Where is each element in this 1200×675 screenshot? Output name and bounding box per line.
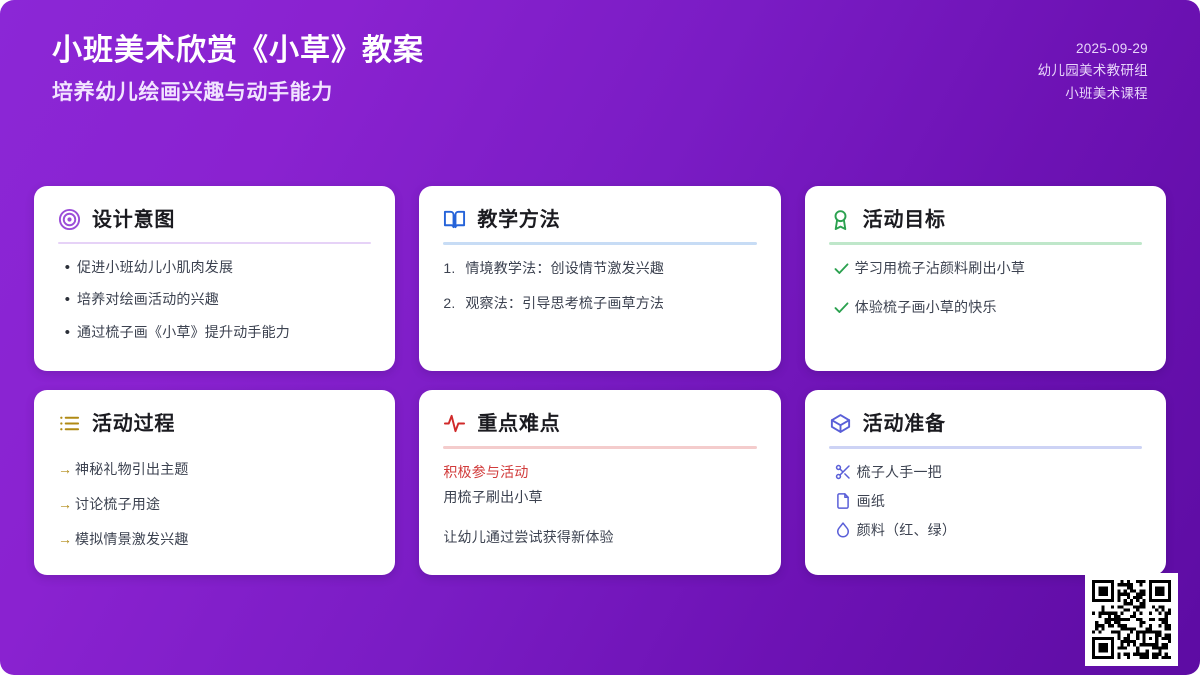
check-icon	[829, 299, 855, 316]
list-item-label: 用梳子刷出小草	[443, 488, 756, 507]
card-activity-goals[interactable]: 活动目标学习用梳子沾颜料刷出小草体验梳子画小草的快乐	[805, 186, 1166, 371]
bullet-marker: •	[58, 258, 77, 278]
card-key-difficulties[interactable]: 重点难点积极参与活动用梳子刷出小草让幼儿通过尝试获得新体验	[419, 390, 780, 575]
card-header: 活动准备	[829, 412, 1142, 435]
list-item: 用梳子刷出小草	[443, 488, 756, 507]
list-item-label: 促进小班幼儿小肌肉发展	[77, 258, 371, 277]
list-item: •培养对绘画活动的兴趣	[58, 290, 371, 310]
list-item: 颜料（红、绿）	[829, 521, 1142, 540]
card-grid: 设计意图•促进小班幼儿小肌肉发展•培养对绘画活动的兴趣•通过梳子画《小草》提升动…	[34, 186, 1166, 575]
number-marker: 1.	[443, 259, 465, 278]
page-title: 小班美术欣赏《小草》教案	[52, 32, 424, 70]
list-item: 让幼儿通过尝试获得新体验	[443, 528, 756, 547]
meta-date: 2025-09-29	[1038, 38, 1148, 60]
list-item: 学习用梳子沾颜料刷出小草	[829, 259, 1142, 278]
card-header: 活动过程	[58, 412, 371, 435]
check-icon	[829, 260, 855, 277]
list-item: 梳子人手一把	[829, 463, 1142, 482]
list-item: •促进小班幼儿小肌肉发展	[58, 258, 371, 278]
list-item-label: 体验梳子画小草的快乐	[855, 298, 1142, 317]
card-divider	[829, 242, 1142, 245]
list-icon	[58, 412, 81, 435]
list-item-label: 积极参与活动	[443, 463, 756, 482]
bullet-marker: •	[58, 290, 77, 310]
box-icon	[829, 412, 852, 435]
card-header: 活动目标	[829, 208, 1142, 231]
list-item-label: 神秘礼物引出主题	[75, 460, 371, 479]
arrow-marker: →	[58, 460, 75, 479]
card-body: 学习用梳子沾颜料刷出小草体验梳子画小草的快乐	[829, 259, 1142, 337]
card-divider	[58, 242, 371, 244]
file-icon	[829, 492, 857, 510]
list-item: •通过梳子画《小草》提升动手能力	[58, 323, 371, 343]
meta-department: 幼儿园美术教研组	[1038, 60, 1148, 82]
card-activity-process[interactable]: 活动过程→神秘礼物引出主题→讨论梳子用途→模拟情景激发兴趣	[34, 390, 395, 575]
card-title: 教学方法	[477, 209, 560, 231]
pulse-icon	[443, 412, 466, 435]
list-item-label: 学习用梳子沾颜料刷出小草	[855, 259, 1142, 278]
slide-root: 小班美术欣赏《小草》教案 培养幼儿绘画兴趣与动手能力 2025-09-29 幼儿…	[0, 0, 1200, 675]
header-meta: 2025-09-29 幼儿园美术教研组 小班美术课程	[1038, 26, 1148, 105]
bullet-marker: •	[58, 323, 77, 343]
card-title: 设计意图	[92, 209, 175, 231]
card-body: →神秘礼物引出主题→讨论梳子用途→模拟情景激发兴趣	[58, 460, 371, 565]
card-header: 重点难点	[443, 412, 756, 435]
list-item-label: 讨论梳子用途	[75, 495, 371, 514]
card-header: 设计意图	[58, 208, 371, 231]
card-divider	[443, 446, 756, 449]
card-title: 活动过程	[92, 413, 175, 435]
qr-code-canvas	[1092, 580, 1171, 659]
card-teaching-method[interactable]: 教学方法1.情境教学法：创设情节激发兴趣2.观察法：引导思考梳子画草方法	[419, 186, 780, 371]
target-icon	[58, 208, 81, 231]
card-body: 1.情境教学法：创设情节激发兴趣2.观察法：引导思考梳子画草方法	[443, 259, 756, 329]
card-title: 活动目标	[863, 209, 946, 231]
list-item: 画纸	[829, 492, 1142, 511]
number-marker: 2.	[443, 294, 465, 313]
award-icon	[829, 208, 852, 231]
arrow-marker: →	[58, 495, 75, 514]
book-icon	[443, 208, 466, 231]
card-body: 梳子人手一把画纸颜料（红、绿）	[829, 463, 1142, 550]
card-body: •促进小班幼儿小肌肉发展•培养对绘画活动的兴趣•通过梳子画《小草》提升动手能力	[58, 258, 371, 356]
card-divider	[829, 446, 1142, 449]
list-item-label: 画纸	[857, 492, 1142, 511]
qr-code[interactable]	[1085, 573, 1178, 666]
list-item-label: 培养对绘画活动的兴趣	[77, 290, 371, 309]
page-subtitle: 培养幼儿绘画兴趣与动手能力	[52, 79, 424, 106]
list-item: 体验梳子画小草的快乐	[829, 298, 1142, 317]
card-divider	[443, 242, 756, 245]
list-item-label: 颜料（红、绿）	[857, 521, 1142, 540]
scissors-icon	[829, 463, 857, 481]
card-header: 教学方法	[443, 208, 756, 231]
list-item: →神秘礼物引出主题	[58, 460, 371, 479]
meta-course: 小班美术课程	[1038, 83, 1148, 105]
list-item: →模拟情景激发兴趣	[58, 530, 371, 549]
list-item: →讨论梳子用途	[58, 495, 371, 514]
droplet-icon	[829, 521, 857, 539]
list-item-label: 模拟情景激发兴趣	[75, 530, 371, 549]
list-item-label: 观察法：引导思考梳子画草方法	[465, 294, 756, 313]
list-item-label: 梳子人手一把	[857, 463, 1142, 482]
card-title: 重点难点	[477, 413, 560, 435]
list-item: 积极参与活动	[443, 463, 756, 482]
list-item-label: 让幼儿通过尝试获得新体验	[443, 528, 756, 547]
list-item-label: 通过梳子画《小草》提升动手能力	[77, 323, 371, 342]
list-item-label: 情境教学法：创设情节激发兴趣	[465, 259, 756, 278]
card-title: 活动准备	[863, 413, 946, 435]
list-item: 1.情境教学法：创设情节激发兴趣	[443, 259, 756, 278]
card-design-intent[interactable]: 设计意图•促进小班幼儿小肌肉发展•培养对绘画活动的兴趣•通过梳子画《小草》提升动…	[34, 186, 395, 371]
card-body: 积极参与活动用梳子刷出小草让幼儿通过尝试获得新体验	[443, 463, 756, 553]
list-item: 2.观察法：引导思考梳子画草方法	[443, 294, 756, 313]
card-activity-preparation[interactable]: 活动准备梳子人手一把画纸颜料（红、绿）	[805, 390, 1166, 575]
slide-header: 小班美术欣赏《小草》教案 培养幼儿绘画兴趣与动手能力 2025-09-29 幼儿…	[0, 0, 1200, 150]
header-title-group: 小班美术欣赏《小草》教案 培养幼儿绘画兴趣与动手能力	[52, 26, 424, 106]
arrow-marker: →	[58, 530, 75, 549]
